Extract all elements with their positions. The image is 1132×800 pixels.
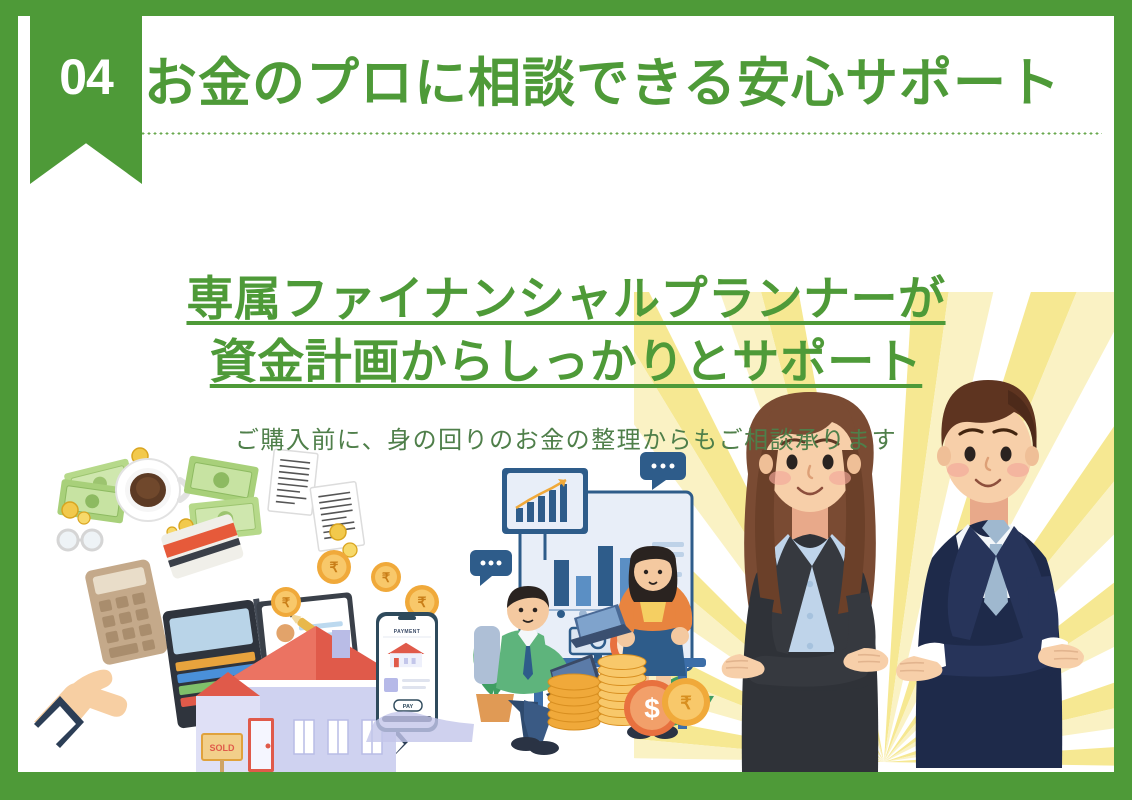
svg-text:₹: ₹ bbox=[680, 693, 692, 713]
svg-text:₹: ₹ bbox=[382, 570, 391, 585]
headline-block: 専属ファイナンシャルプランナーが 資金計画からしっかりとサポート bbox=[18, 268, 1114, 393]
headline-line-1: 専属ファイナンシャルプランナーが bbox=[18, 268, 1114, 331]
slide-panel: 04 お金のプロに相談できる安心サポート 専属ファイナンシャルプランナーが 資金… bbox=[18, 16, 1114, 772]
svg-text:$: $ bbox=[644, 693, 660, 724]
svg-text:PAYMENT: PAYMENT bbox=[394, 629, 420, 635]
slide-root: 04 お金のプロに相談できる安心サポート 専属ファイナンシャルプランナーが 資金… bbox=[0, 0, 1132, 800]
headline-line-2: 資金計画からしっかりとサポート bbox=[18, 331, 1114, 394]
analytics-team-scene: $ ₹ bbox=[470, 452, 714, 755]
svg-text:₹: ₹ bbox=[282, 595, 291, 610]
rupee-coin: ₹ bbox=[371, 562, 401, 592]
svg-text:₹: ₹ bbox=[330, 559, 339, 575]
section-number: 04 bbox=[59, 48, 113, 106]
svg-text:PAY: PAY bbox=[403, 704, 414, 710]
section-number-ribbon: 04 bbox=[30, 16, 142, 184]
rupee-coin: ₹ bbox=[271, 587, 301, 617]
header-dotted-divider bbox=[32, 132, 1102, 135]
svg-text:₹: ₹ bbox=[418, 594, 427, 610]
svg-text:SOLD: SOLD bbox=[209, 743, 235, 753]
subtitle-text: ご購入前に、身の回りのお金の整理からもご相談承ります bbox=[18, 420, 1114, 455]
page-title: お金のプロに相談できる安心サポート bbox=[144, 56, 1061, 112]
rupee-coin: ₹ bbox=[317, 550, 351, 584]
